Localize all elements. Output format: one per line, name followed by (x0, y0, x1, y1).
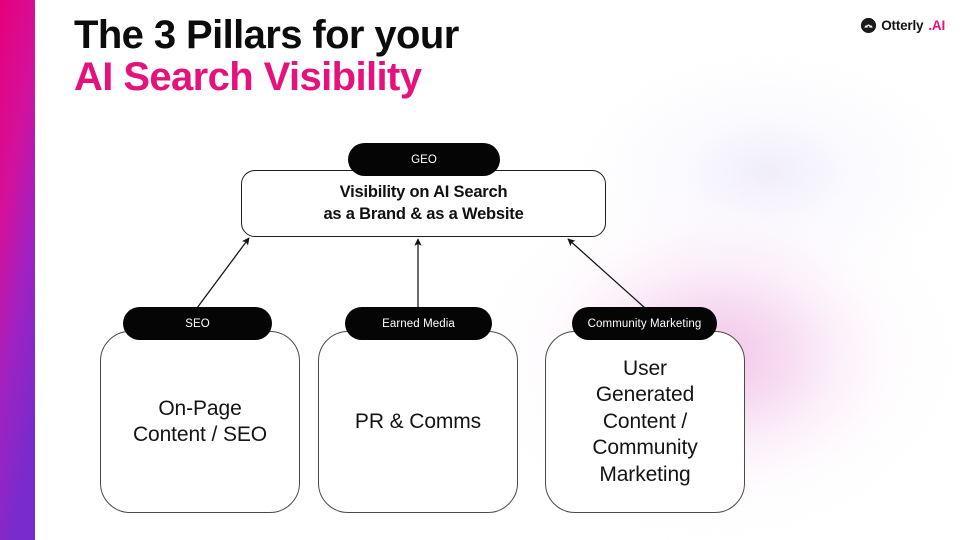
card-line: User (592, 356, 697, 382)
pillar-card-earned-media[interactable]: PR & Comms (318, 331, 518, 513)
pillar-card-community-marketing-text: User Generated Content / Community Marke… (584, 356, 705, 488)
card-line: On-Page (133, 396, 267, 422)
pill-community-marketing[interactable]: Community Marketing (572, 307, 717, 340)
node-top-line-2: as a Brand & as a Website (323, 204, 523, 226)
pill-geo[interactable]: GEO (348, 143, 500, 176)
card-line: Marketing (592, 462, 697, 488)
pillar-card-seo-text: On-Page Content / SEO (125, 396, 275, 449)
pill-seo[interactable]: SEO (123, 307, 272, 340)
connector-community-marketing (568, 239, 645, 308)
slide: The 3 Pillars for your AI Search Visibil… (0, 0, 960, 540)
card-line: Content / SEO (133, 422, 267, 448)
pill-seo-label: SEO (185, 318, 210, 330)
pill-geo-label: GEO (411, 154, 437, 166)
pillar-card-community-marketing[interactable]: User Generated Content / Community Marke… (545, 331, 745, 513)
node-top-line-1: Visibility on AI Search (323, 182, 523, 204)
card-line: PR & Comms (355, 409, 481, 435)
card-line: Community (592, 435, 697, 461)
pill-community-marketing-label: Community Marketing (588, 318, 702, 330)
card-line: Generated (592, 382, 697, 408)
pillar-card-earned-media-text: PR & Comms (347, 409, 489, 435)
pill-earned-media[interactable]: Earned Media (345, 307, 492, 340)
three-pillars-diagram: GEO Visibility on AI Search as a Brand &… (0, 0, 960, 540)
connector-seo (197, 238, 249, 308)
card-line: Content / (592, 409, 697, 435)
pill-earned-media-label: Earned Media (382, 318, 455, 330)
pillar-card-seo[interactable]: On-Page Content / SEO (100, 331, 300, 513)
node-visibility-on-ai-search[interactable]: Visibility on AI Search as a Brand & as … (241, 170, 606, 237)
node-top-text: Visibility on AI Search as a Brand & as … (323, 182, 523, 226)
